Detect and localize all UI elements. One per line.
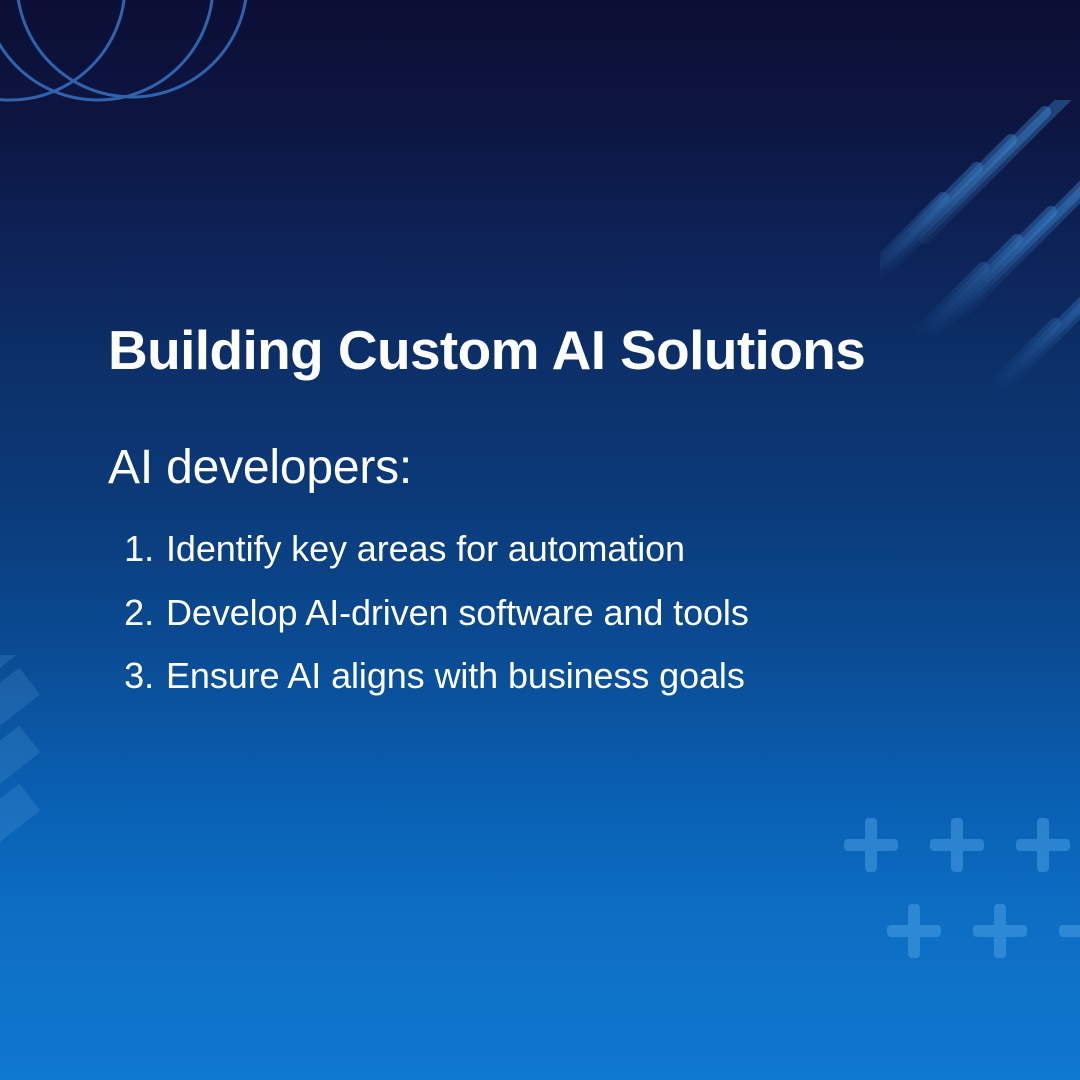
slide-content: Building Custom AI Solutions AI develope… — [108, 320, 990, 698]
list-item: 1. Identify key areas for automation — [108, 528, 990, 570]
plus-mark-1 — [844, 818, 898, 872]
plus-mark-3 — [1016, 818, 1070, 872]
list-item-label: Identify key areas for automation — [166, 528, 990, 570]
stripe-10 — [956, 147, 1080, 318]
slide-subheading: AI developers: — [108, 442, 990, 495]
plus-marks-decoration — [820, 800, 1080, 980]
circle-outlines-decoration — [0, 0, 310, 160]
plus-mark-5 — [973, 904, 1027, 958]
plus-mark-4 — [887, 904, 941, 958]
list-item-number: 1. — [108, 528, 166, 570]
list-item-label: Develop AI-driven software and tools — [166, 592, 990, 634]
list-item: 3. Ensure AI aligns with business goals — [108, 655, 990, 697]
stripe-4 — [882, 103, 1053, 274]
stripe-5 — [916, 100, 1080, 247]
plus-mark-6 — [1059, 904, 1080, 958]
plus-mark-2 — [930, 818, 984, 872]
list-item-number: 2. — [108, 592, 166, 634]
circle-outlines-svg — [0, 0, 310, 160]
stripe-2 — [880, 159, 986, 330]
decor-circle-1 — [0, 0, 125, 100]
stripe-3 — [880, 131, 1020, 302]
diagonal-bars-decoration — [0, 655, 170, 945]
bar-5 — [0, 784, 40, 928]
slide-headline: Building Custom AI Solutions — [108, 320, 990, 382]
bar-4 — [0, 726, 40, 870]
bar-2 — [0, 655, 40, 753]
list-item: 2. Develop AI-driven software and tools — [108, 592, 990, 634]
slide-canvas: Building Custom AI Solutions AI develope… — [0, 0, 1080, 1080]
list-item-number: 3. — [108, 655, 166, 697]
numbered-step-list: 1. Identify key areas for automation 2. … — [108, 528, 990, 697]
list-item-label: Ensure AI aligns with business goals — [166, 655, 990, 697]
decor-circle-3 — [17, 0, 247, 97]
bar-3 — [0, 668, 40, 812]
bar-1 — [0, 655, 40, 695]
decor-circle-2 — [0, 0, 213, 100]
